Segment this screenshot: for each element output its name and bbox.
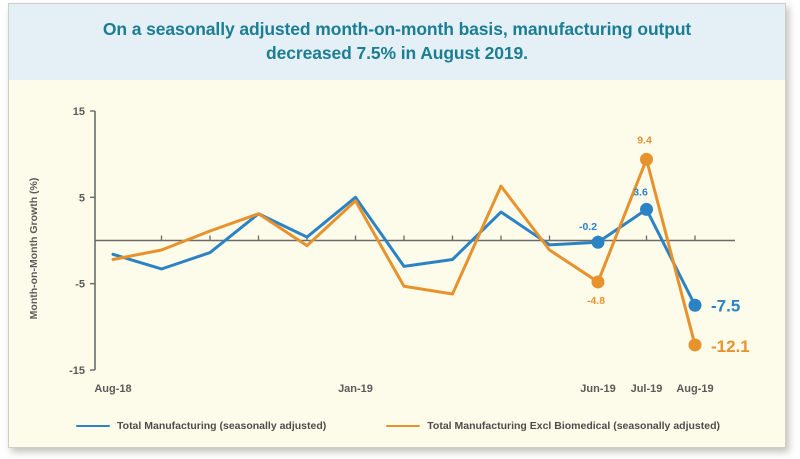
x-tick-label-4: Aug-19 bbox=[676, 383, 713, 395]
data-label--12-1: -12.1 bbox=[711, 337, 750, 356]
legend-item-total-manufacturing[interactable]: Total Manufacturing (seasonally adjusted… bbox=[76, 420, 326, 432]
x-tick-label-2: Jun-19 bbox=[580, 383, 615, 395]
series-line-1[interactable] bbox=[113, 159, 695, 345]
data-marker-2[interactable] bbox=[689, 299, 702, 312]
chart-legend: Total Manufacturing (seasonally adjusted… bbox=[9, 420, 786, 432]
data-label--0-2: -0.2 bbox=[579, 221, 597, 233]
y-tick-label-2: -5 bbox=[75, 279, 85, 291]
data-marker-5[interactable] bbox=[689, 338, 702, 351]
x-tick-label-3: Jul-19 bbox=[631, 383, 663, 395]
data-label-3-6: 3.6 bbox=[633, 186, 648, 198]
series-line-0[interactable] bbox=[113, 197, 695, 305]
legend-swatch-orange bbox=[386, 425, 420, 428]
legend-swatch-blue bbox=[76, 425, 110, 428]
legend-item-excl-biomedical[interactable]: Total Manufacturing Excl Biomedical (sea… bbox=[386, 420, 720, 432]
y-tick-label-0: 15 bbox=[73, 106, 85, 118]
page-title: On a seasonally adjusted month-on-month … bbox=[63, 18, 731, 65]
data-marker-0[interactable] bbox=[592, 236, 605, 249]
legend-label-total-manufacturing: Total Manufacturing (seasonally adjusted… bbox=[117, 420, 326, 432]
chart-panel: 155-5-15Month-on-Month Growth (%)Aug-18J… bbox=[9, 80, 786, 448]
data-marker-1[interactable] bbox=[640, 203, 653, 216]
line-chart: 155-5-15Month-on-Month Growth (%)Aug-18J… bbox=[9, 80, 786, 448]
y-tick-label-3: -15 bbox=[69, 365, 85, 377]
data-marker-3[interactable] bbox=[592, 275, 605, 288]
x-tick-label-1: Jan-19 bbox=[338, 383, 373, 395]
data-label--7-5: -7.5 bbox=[711, 296, 740, 315]
data-marker-4[interactable] bbox=[640, 153, 653, 166]
data-label--4-8: -4.8 bbox=[587, 295, 605, 307]
infographic-card: On a seasonally adjusted month-on-month … bbox=[8, 3, 786, 448]
card-header: On a seasonally adjusted month-on-month … bbox=[9, 4, 785, 80]
y-axis-title: Month-on-Month Growth (%) bbox=[28, 178, 40, 320]
screenshot-root: On a seasonally adjusted month-on-month … bbox=[0, 0, 800, 459]
y-tick-label-1: 5 bbox=[79, 192, 85, 204]
x-tick-label-0: Aug-18 bbox=[94, 383, 131, 395]
data-label-9-4: 9.4 bbox=[637, 134, 652, 146]
legend-label-excl-biomedical: Total Manufacturing Excl Biomedical (sea… bbox=[427, 420, 720, 432]
